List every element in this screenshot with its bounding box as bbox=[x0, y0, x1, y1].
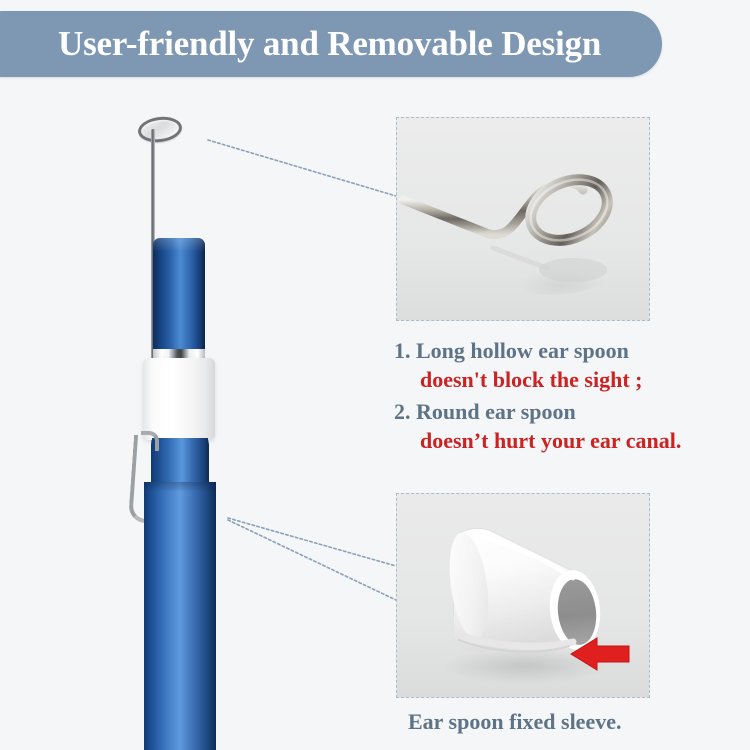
hollow-ear-spoon-loop-icon bbox=[137, 114, 184, 144]
feature-2-main: 2. Round ear spoon bbox=[394, 397, 746, 426]
ear-spoon-photo bbox=[397, 118, 649, 320]
feature-list: 1. Long hollow ear spoon doesn't block t… bbox=[394, 336, 746, 458]
ear-cleaning-pen-device bbox=[95, 105, 315, 750]
panel-fixed-sleeve-closeup bbox=[396, 493, 650, 698]
ear-spoon-fixed-sleeve-on-device bbox=[143, 358, 215, 440]
device-lower-handle bbox=[144, 482, 216, 750]
feature-2-emphasis: doesn’t hurt your ear canal. bbox=[394, 426, 746, 456]
page-title: User-friendly and Removable Design bbox=[58, 16, 658, 72]
feature-1-emphasis: doesn't block the sight ; bbox=[394, 365, 746, 395]
feature-1-main: 1. Long hollow ear spoon bbox=[394, 336, 746, 365]
infographic-canvas: User-friendly and Removable Design bbox=[0, 0, 750, 750]
feature-item-2: 2. Round ear spoon doesn’t hurt your ear… bbox=[394, 397, 746, 456]
sleeve-caption: Ear spoon fixed sleeve. bbox=[408, 708, 738, 736]
device-shoulder-taper bbox=[151, 438, 209, 484]
panel-ear-spoon-closeup bbox=[396, 117, 650, 321]
fixed-sleeve-photo bbox=[397, 494, 649, 697]
feature-item-1: 1. Long hollow ear spoon doesn't block t… bbox=[394, 336, 746, 395]
